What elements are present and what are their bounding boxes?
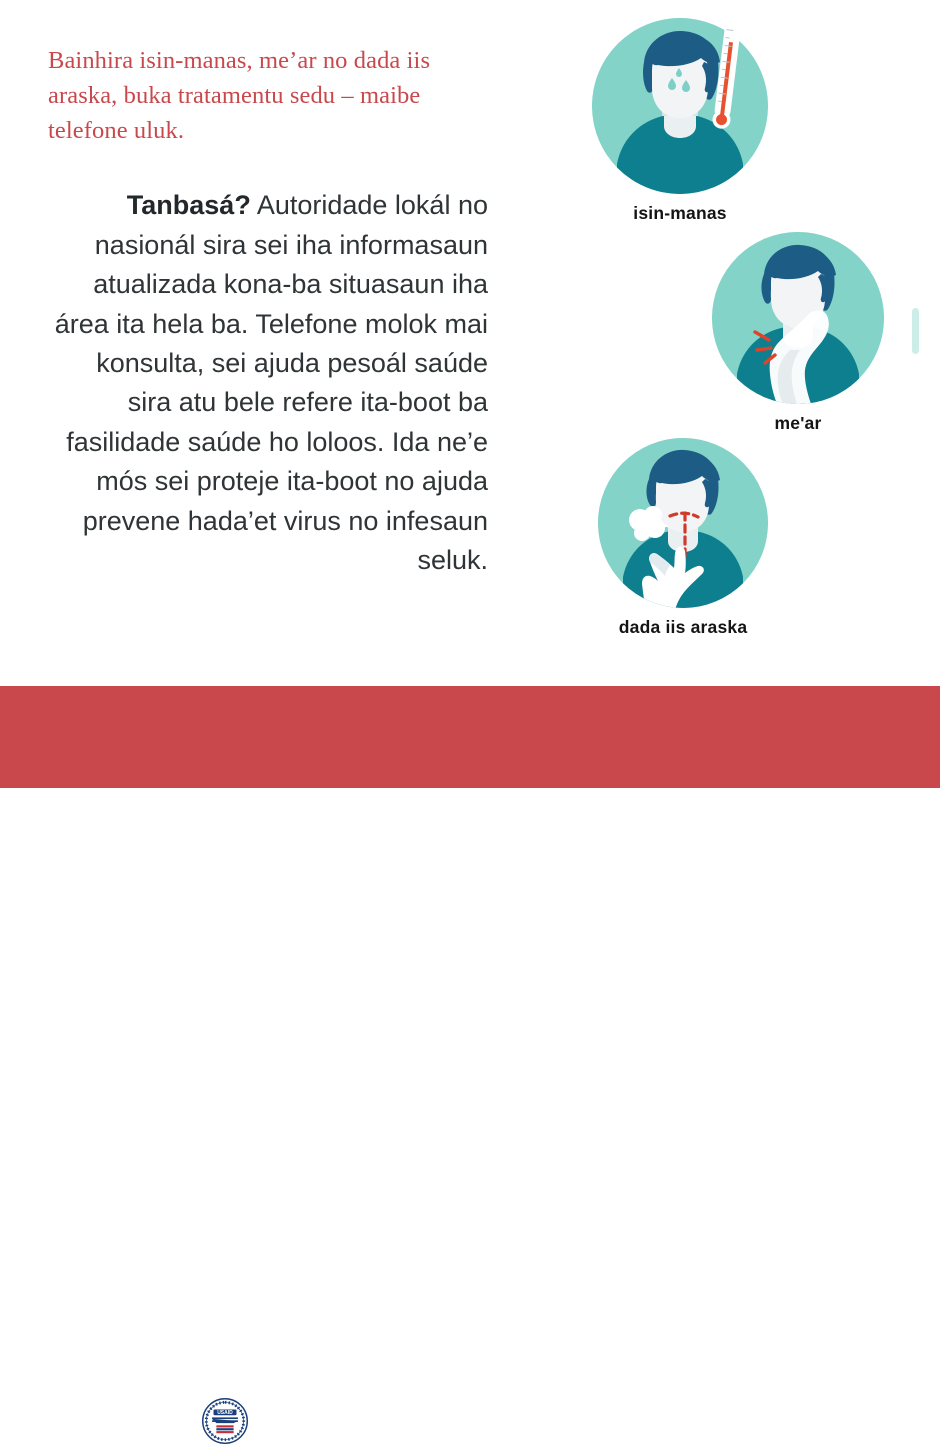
usaid-seal-icon: USAID: [202, 1398, 248, 1444]
who-emblem-icon: [56, 1403, 100, 1447]
usaid-tagline-text: HUSI POVU AMERIKANU: [256, 1432, 373, 1442]
symptom-card-cough: me'ar: [712, 232, 884, 434]
who-line1: World Health: [109, 1399, 197, 1415]
hashtag-covid19: #COVID19: [646, 1396, 898, 1424]
who-logo: World Health Organization Timor-Leste: [56, 1399, 197, 1451]
hashtag-block: #COVID19 ItaHamutukIhaLutaIdaNe'e: [646, 1396, 898, 1451]
poster-canvas: Bainhira isin-manas, me’ar no dada iis a…: [0, 0, 940, 788]
usaid-name: USAID: [256, 1400, 380, 1430]
usaid-wordmark: USAID HUSI POVU AMERIKANU™: [256, 1400, 380, 1442]
usaid-logo: USAID USAID HUSI POVU AMERIKANU™: [202, 1398, 380, 1444]
body-lead: Tanbasá?: [127, 190, 251, 220]
who-divider: [109, 1433, 197, 1435]
footer-band: World Health Organization Timor-Leste US…: [0, 686, 940, 788]
body-paragraph: Tanbasá? Autoridade lokál no nasionál si…: [48, 186, 488, 580]
svg-text:USAID: USAID: [217, 1410, 233, 1416]
thermometer-icon: [706, 16, 748, 134]
person-coughing-into-elbow-icon: [712, 232, 884, 404]
person-shortness-of-breath-icon: [598, 438, 768, 608]
symptom-caption-fever: isin-manas: [592, 203, 768, 224]
symptom-caption-breathing: dada iis araska: [598, 617, 768, 638]
headline: Bainhira isin-manas, me’ar no dada iis a…: [48, 44, 498, 148]
text-column: Bainhira isin-manas, me’ar no dada iis a…: [48, 44, 498, 580]
who-country: Timor-Leste: [109, 1437, 197, 1451]
edge-decoration-sliver: [912, 308, 919, 354]
usaid-trademark: ™: [373, 1431, 380, 1438]
who-wordmark: World Health Organization Timor-Leste: [109, 1399, 197, 1451]
who-line2: Organization: [109, 1415, 197, 1431]
symptom-caption-cough: me'ar: [712, 413, 884, 434]
body-text: Autoridade lokál no nasionál sira sei ih…: [55, 190, 488, 575]
usaid-tagline: HUSI POVU AMERIKANU™: [256, 1431, 380, 1442]
hashtag-campaign: ItaHamutukIhaLutaIdaNe'e: [646, 1424, 898, 1451]
symptom-card-breathing: dada iis araska: [598, 438, 768, 638]
